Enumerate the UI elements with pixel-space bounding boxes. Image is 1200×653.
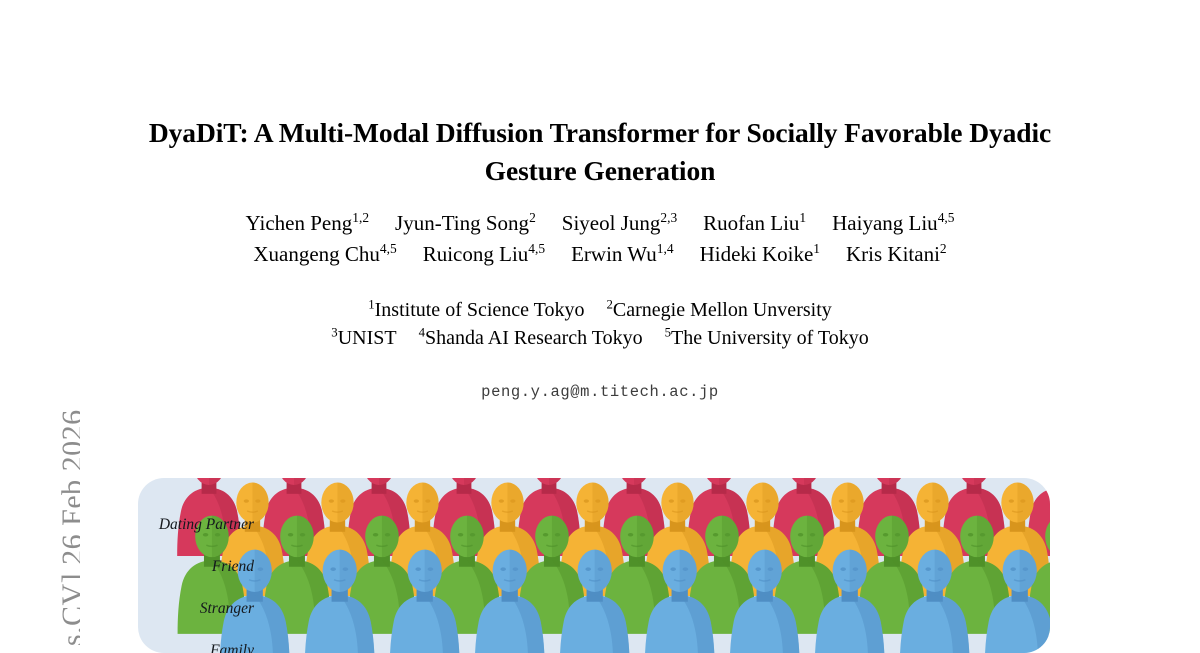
author-name: Haiyang Liu4,5 xyxy=(832,208,954,239)
contact-email: peng.y.ag@m.titech.ac.jp xyxy=(130,383,1070,401)
figure-row-label: Dating Partner xyxy=(138,504,254,546)
avatar-mesh-icon xyxy=(809,548,890,653)
affiliation-entry: 4Shanda AI Research Tokyo xyxy=(419,324,643,352)
author-affiliation-marker: 2,3 xyxy=(660,210,677,225)
teaser-figure: Dating PartnerFriendStrangerFamily xyxy=(138,478,1050,653)
author-name: Erwin Wu1,4 xyxy=(571,239,673,270)
paper-title: DyaDiT: A Multi-Modal Diffusion Transfor… xyxy=(130,114,1070,190)
author-name: Ruofan Liu1 xyxy=(703,208,806,239)
author-row: Xuangeng Chu4,5Ruicong Liu4,5Erwin Wu1,4… xyxy=(130,239,1070,270)
author-affiliation-marker: 2 xyxy=(940,241,947,256)
author-row: Yichen Peng1,2Jyun-Ting Song2Siyeol Jung… xyxy=(130,208,1070,239)
author-name: Hideki Koike1 xyxy=(700,239,820,270)
avatar-mesh-icon xyxy=(724,548,805,653)
author-affiliation-marker: 4,5 xyxy=(380,241,397,256)
avatar-mesh-icon xyxy=(639,548,720,653)
affiliation-marker: 3 xyxy=(331,325,337,339)
avatar-scene xyxy=(138,478,1050,653)
avatar-figure xyxy=(894,548,975,653)
avatar-figure xyxy=(469,548,550,653)
avatar-figure xyxy=(639,548,720,653)
avatar-row xyxy=(138,493,1050,653)
author-affiliation-marker: 1,4 xyxy=(657,241,674,256)
affiliation-entry: 5The University of Tokyo xyxy=(665,324,869,352)
author-list: Yichen Peng1,2Jyun-Ting Song2Siyeol Jung… xyxy=(130,208,1070,270)
avatar-figure xyxy=(554,548,635,653)
affiliation-marker: 4 xyxy=(419,325,425,339)
author-name: Yichen Peng1,2 xyxy=(246,208,370,239)
avatar-figure xyxy=(384,548,465,653)
arxiv-sidebar-stamp: cs.CV] 26 Feb 2026 xyxy=(0,0,80,648)
avatar-figure xyxy=(724,548,805,653)
avatar-mesh-icon xyxy=(469,548,550,653)
affiliation-row: 1Institute of Science Tokyo2Carnegie Mel… xyxy=(130,296,1070,324)
author-affiliation-marker: 1,2 xyxy=(352,210,369,225)
avatar-mesh-icon xyxy=(384,548,465,653)
author-affiliation-marker: 1 xyxy=(813,241,820,256)
author-name: Jyun-Ting Song2 xyxy=(395,208,536,239)
avatar-mesh-icon xyxy=(894,548,975,653)
avatar-figure xyxy=(809,548,890,653)
figure-row-label: Friend xyxy=(138,546,254,588)
author-affiliation-marker: 2 xyxy=(529,210,536,225)
affiliation-marker: 5 xyxy=(665,325,671,339)
affiliation-list: 1Institute of Science Tokyo2Carnegie Mel… xyxy=(130,296,1070,352)
arxiv-stamp-text: cs.CV] 26 Feb 2026 xyxy=(56,409,80,648)
author-name: Siyeol Jung2,3 xyxy=(562,208,677,239)
author-affiliation-marker: 1 xyxy=(799,210,806,225)
figure-row-label: Family xyxy=(138,630,254,653)
author-name: Ruicong Liu4,5 xyxy=(423,239,545,270)
affiliation-marker: 2 xyxy=(607,297,613,311)
affiliation-marker: 1 xyxy=(368,297,374,311)
avatar-mesh-icon xyxy=(979,548,1050,653)
affiliation-entry: 2Carnegie Mellon Unversity xyxy=(607,296,832,324)
affiliation-entry: 1Institute of Science Tokyo xyxy=(368,296,584,324)
avatar-mesh-icon xyxy=(299,548,380,653)
author-affiliation-marker: 4,5 xyxy=(528,241,545,256)
author-name: Xuangeng Chu4,5 xyxy=(253,239,396,270)
author-name: Kris Kitani2 xyxy=(846,239,947,270)
figure-row-label: Stranger xyxy=(138,588,254,630)
affiliation-row: 3UNIST4Shanda AI Research Tokyo5The Univ… xyxy=(130,324,1070,352)
figure-row-labels: Dating PartnerFriendStrangerFamily xyxy=(138,504,254,653)
affiliation-entry: 3UNIST xyxy=(331,324,396,352)
avatar-figure xyxy=(299,548,380,653)
avatar-mesh-icon xyxy=(554,548,635,653)
author-affiliation-marker: 4,5 xyxy=(938,210,955,225)
avatar-figure xyxy=(979,548,1050,653)
